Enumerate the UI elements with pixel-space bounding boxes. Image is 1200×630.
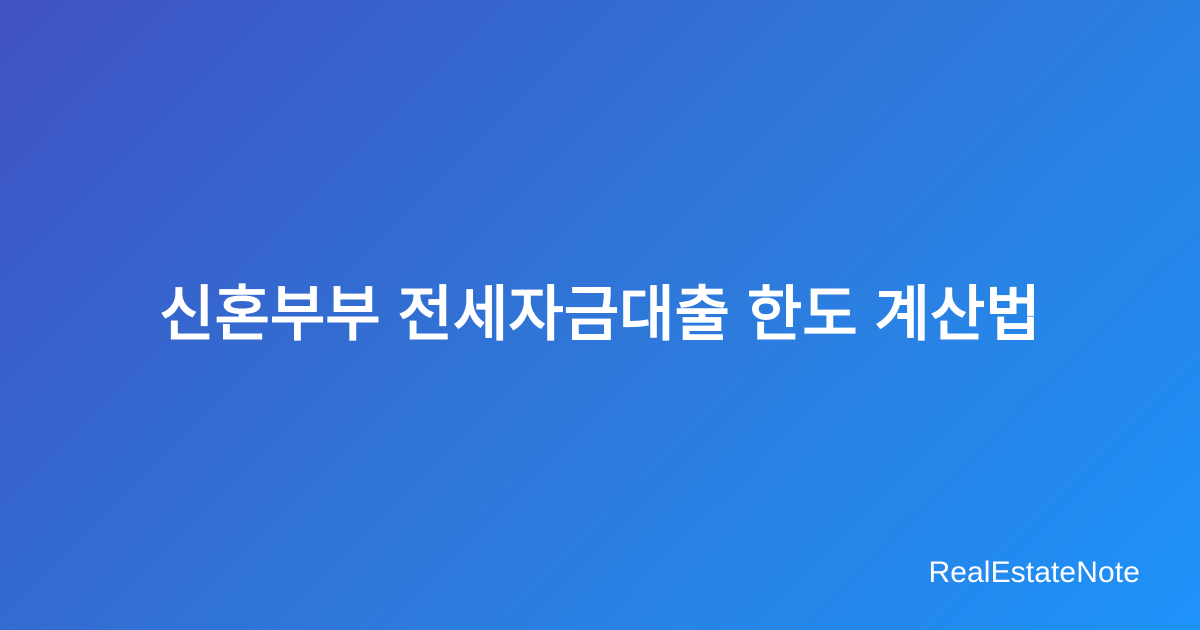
page-title: 신혼부부 전세자금대출 한도 계산법 [159, 277, 1041, 353]
headline-container: 신혼부부 전세자금대출 한도 계산법 [0, 0, 1200, 630]
brand-watermark: RealEstateNote [928, 558, 1140, 588]
share-card: 신혼부부 전세자금대출 한도 계산법 RealEstateNote [0, 0, 1200, 630]
